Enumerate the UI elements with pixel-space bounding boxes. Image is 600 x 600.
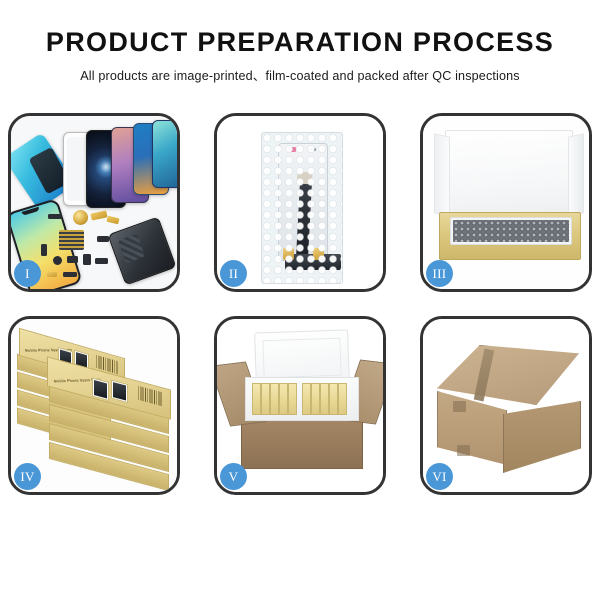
step-badge-3: III: [426, 260, 453, 287]
chip-icon: [83, 254, 91, 265]
carton-tab-icon: [453, 401, 466, 412]
carton-top-face: [437, 345, 579, 405]
step-badge-2: II: [220, 260, 247, 287]
chip-icon: [63, 272, 77, 277]
box-stack: Mobile Phone Spare Parts Mobile Phone Sp…: [15, 341, 177, 481]
page-title: PRODUCT PREPARATION PROCESS: [0, 28, 600, 56]
gold-bracket-icon: [106, 216, 119, 225]
phone-screen-teal-icon: [152, 120, 177, 188]
foam-padding: [453, 220, 569, 242]
bubble-texture: [262, 133, 342, 283]
step-panel-3: III: [420, 113, 592, 292]
box-lid: [445, 130, 573, 220]
step-badge-5: V: [220, 463, 247, 490]
connector-pad-icon: [59, 230, 84, 250]
speaker-coil-icon: [73, 210, 88, 225]
gold-bracket-icon: [90, 210, 107, 220]
step-badge-6: VI: [426, 463, 453, 490]
step-badge-4: IV: [14, 463, 41, 490]
header: PRODUCT PREPARATION PROCESS All products…: [0, 0, 600, 84]
chip-icon: [41, 244, 47, 256]
bubble-wrap-bag: [261, 132, 343, 284]
steps-grid: I II: [8, 113, 592, 495]
chip-icon: [67, 256, 78, 263]
gold-bracket-icon: [47, 272, 57, 277]
phone-back-housing-icon: [107, 216, 176, 285]
chip-icon: [95, 258, 108, 264]
carton-front-face: [437, 391, 507, 465]
packed-box: [288, 383, 297, 415]
kraft-tray: [439, 212, 581, 260]
product-preparation-infographic: PRODUCT PREPARATION PROCESS All products…: [0, 0, 600, 600]
carton-side-face: [503, 401, 581, 473]
packed-box: [261, 383, 270, 415]
step-panel-2: II: [214, 113, 386, 292]
chip-icon: [97, 236, 109, 242]
step-badge-1: I: [14, 260, 41, 287]
packed-box: [320, 383, 329, 415]
foam-liner: [245, 377, 359, 421]
packed-box: [338, 383, 347, 415]
packed-box: [279, 383, 288, 415]
page-subtitle: All products are image-printed、film-coat…: [0, 65, 600, 84]
packed-box: [329, 383, 338, 415]
packed-box: [252, 383, 261, 415]
step-panel-6: VI: [420, 316, 592, 495]
step-panel-5: V: [214, 316, 386, 495]
packed-box: [270, 383, 279, 415]
tray-interior: [450, 217, 572, 245]
chip-icon: [48, 214, 62, 219]
carton-tab-icon: [457, 445, 470, 456]
button-icon: [53, 256, 62, 265]
packed-box: [302, 383, 311, 415]
step-panel-1: I: [8, 113, 180, 292]
step-panel-4: Mobile Phone Spare Parts Mobile Phone Sp…: [8, 316, 180, 495]
packed-box: [311, 383, 320, 415]
